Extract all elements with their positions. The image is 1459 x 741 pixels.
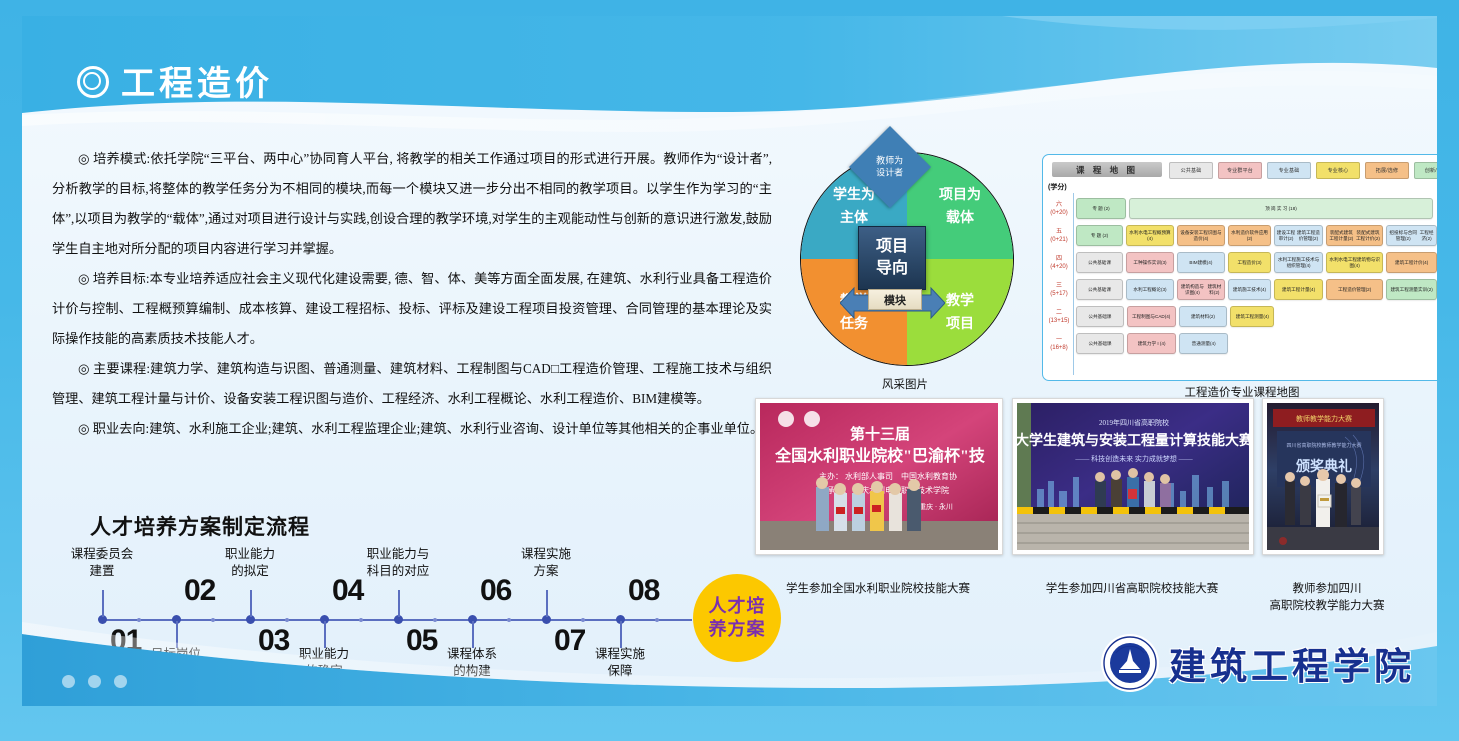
legend-item-5: 创新/实践 <box>1414 162 1437 179</box>
course-cell <box>1327 334 1384 353</box>
svg-text:2019年四川省高职院校: 2019年四川省高职院校 <box>1099 418 1169 427</box>
paragraph-main-courses: ◎ 主要课程:建筑力学、建筑构造与识图、普通测量、建筑材料、工程制图与CAD□工… <box>52 354 772 414</box>
svg-text:教师教学能力大赛: 教师教学能力大赛 <box>1296 414 1352 423</box>
course-cell <box>1387 334 1437 353</box>
course-cell: 设备安装工程识图与造价(4) <box>1177 225 1225 246</box>
course-cell <box>1276 334 1324 353</box>
course-map-row: 公共基础课工种操作实训(3)BIM建模(4)工程造价(3)水利工程施工技术与组织… <box>1076 249 1437 276</box>
legend-item-0: 公共基础 <box>1169 162 1213 179</box>
course-map-row: 专 题 (2)水利水电工程概预算(4)设备安装工程识图与造价(4)水利造价软件应… <box>1076 222 1437 249</box>
poster-inner-panel: 工程造价 ◎ 培养模式:依托学院“三平台、两中心”协同育人平台, 将教学的相关工… <box>22 16 1437 706</box>
semester-四: 四(4+20) <box>1046 249 1072 276</box>
course-cell: 建筑工程测量(4) <box>1230 306 1274 327</box>
page-title-text: 工程造价 <box>121 65 273 103</box>
course-cell: 水利工程概论(3) <box>1126 279 1174 300</box>
course-cell: 公共基础课 <box>1076 252 1123 273</box>
semester-五: 五(0+21) <box>1046 222 1072 249</box>
timeline-label-05: 职业能力与科目的对应 <box>350 546 446 580</box>
photo-teacher-competition: 教师教学能力大赛 四川省高职院校教师教学能力大赛 颁奖典礼 <box>1262 398 1384 555</box>
photo-national-competition: 第十三届 全国水利职业院校"巴渝杯"技 主办： 水利部人事司 中国水利教育协 承… <box>755 398 1003 555</box>
semester-六: 六(0+20) <box>1046 195 1072 222</box>
double-circle-icon <box>77 66 109 98</box>
course-cell: 公共基础课 <box>1076 306 1124 327</box>
course-cell: 建筑力学 I (4) <box>1127 333 1176 354</box>
school-crest-icon <box>1101 634 1159 692</box>
dot-1 <box>62 675 75 688</box>
timeline-title: 人才培养方案制定流程 <box>90 511 310 541</box>
page-title: 工程造价 <box>77 56 273 105</box>
course-cell: 建筑施工技术(4) <box>1228 279 1271 300</box>
dot-2 <box>88 675 101 688</box>
decorative-dots <box>62 675 127 688</box>
course-cell: 普通测量(4) <box>1179 333 1228 354</box>
course-cell: 建筑工程测量实训(2) <box>1386 279 1437 300</box>
legend-item-4: 拓展/选修 <box>1365 162 1409 179</box>
wheel-module-label: 模块 <box>868 289 922 310</box>
svg-text:重庆 · 永川: 重庆 · 永川 <box>919 502 953 511</box>
course-cell: 建筑材料(2) <box>1179 306 1228 327</box>
course-cell: 公共基础课 <box>1076 279 1123 300</box>
photo-3-image: 教师教学能力大赛 四川省高职院校教师教学能力大赛 颁奖典礼 <box>1267 403 1379 550</box>
legend-item-2: 专业基础 <box>1267 162 1311 179</box>
course-map-axis <box>1073 193 1074 375</box>
course-map-semester-column: 六(0+20)五(0+21)四(4+20)三(5+17)二(13+15)一(16… <box>1046 195 1072 357</box>
course-cell <box>1277 307 1325 326</box>
course-cell: 公共基础课 <box>1076 333 1124 354</box>
course-map-row: 公共基础课建筑力学 I (4)普通测量(4) <box>1076 330 1437 357</box>
semester-一: 一(16+8) <box>1046 330 1072 357</box>
dot-3 <box>114 675 127 688</box>
photo-province-competition: 2019年四川省高职院校 大学生建筑与安装工程量计算技能大赛 —— 科技创造未来… <box>1012 398 1254 555</box>
course-map-row: 公共基础课工程制图与CAD(4)建筑材料(2)建筑工程测量(4) <box>1076 303 1437 330</box>
poster-page: 工程造价 ◎ 培养模式:依托学院“三平台、两中心”协同育人平台, 将教学的相关工… <box>0 0 1459 741</box>
course-cell: 专 题 (2) <box>1076 198 1126 219</box>
course-cell: 建筑构造与识图(4)建筑材料(2) <box>1177 279 1225 300</box>
legend-item-1: 专业群平台 <box>1218 162 1262 179</box>
course-cell: 建设工程审计(2)建筑工程造价管理(2) <box>1274 225 1323 246</box>
paragraph-career-paths: ◎ 职业去向:建筑、水利施工企业;建筑、水利工程监理企业;建筑、水利行业咨询、设… <box>52 414 772 444</box>
svg-text:全国水利职业院校"巴渝杯"技: 全国水利职业院校"巴渝杯"技 <box>774 446 986 465</box>
course-cell: 工程制图与CAD(4) <box>1127 306 1176 327</box>
course-cell: 装配式建筑工程计量(2)装配式建筑工程计价(2) <box>1326 225 1383 246</box>
course-cell: 水利水电工程概预算(4) <box>1126 225 1174 246</box>
course-cell <box>1387 307 1437 326</box>
legend-item-3: 专业核心 <box>1316 162 1360 179</box>
svg-text:—— 科技创造未来 实力成就梦想 ——: —— 科技创造未来 实力成就梦想 —— <box>1074 454 1193 463</box>
school-logo: 建筑工程学院 <box>1101 634 1415 692</box>
course-cell: BIM建模(4) <box>1177 252 1225 273</box>
school-name: 建筑工程学院 <box>1169 636 1415 690</box>
course-map-panel: 课 程 地 图 公共基础专业群平台专业基础专业核心拓展/选修创新/实践 (学分)… <box>1042 154 1437 381</box>
svg-text:四川省高职院校教师教学能力大赛: 四川省高职院校教师教学能力大赛 <box>1286 442 1361 449</box>
course-map-legend: 公共基础专业群平台专业基础专业核心拓展/选修创新/实践 <box>1169 162 1437 179</box>
svg-text:大学生建筑与安装工程量计算技能大赛: 大学生建筑与安装工程量计算技能大赛 <box>1017 432 1249 449</box>
body-copy: ◎ 培养模式:依托学院“三平台、两中心”协同育人平台, 将教学的相关工作通过项目… <box>52 144 772 444</box>
semester-二: 二(13+15) <box>1046 303 1072 330</box>
course-cell: 顶 岗 实 习 (18) <box>1129 198 1433 219</box>
svg-text:第十三届: 第十三届 <box>850 425 910 443</box>
course-cell: 水利工程施工技术与组织管理(4) <box>1274 252 1323 273</box>
timeline-label-07: 课程实施方案 <box>498 546 594 580</box>
photo-2-image: 2019年四川省高职院校 大学生建筑与安装工程量计算技能大赛 —— 科技创造未来… <box>1017 403 1249 550</box>
course-map-row: 专 题 (2)顶 岗 实 习 (18) <box>1076 195 1437 222</box>
course-cell: 建筑工程计量(4) <box>1274 279 1323 300</box>
paragraph-training-goal: ◎ 培养目标:本专业培养适应社会主义现代化建设需要, 德、智、体、美等方面全面发… <box>52 264 772 354</box>
wheel-caption: 风采图片 <box>820 376 990 392</box>
course-map-row: 公共基础课水利工程概论(3)建筑构造与识图(4)建筑材料(2)建筑施工技术(4)… <box>1076 276 1437 303</box>
project-oriented-wheel: 学生为 主体 项目为 载体 教学 任务 教学 项目 模块 <box>780 144 1030 394</box>
paragraph-training-mode: ◎ 培养模式:依托学院“三平台、两中心”协同育人平台, 将教学的相关工作通过项目… <box>52 144 772 264</box>
course-cell: 招投标与合同管理(2)工程经济(2) <box>1386 225 1437 246</box>
course-cell: 水利造价软件应用(2) <box>1228 225 1271 246</box>
photo-1-image: 第十三届 全国水利职业院校"巴渝杯"技 主办： 水利部人事司 中国水利教育协 承… <box>760 403 998 550</box>
wheel-core-label: 项目 导向 <box>858 226 926 290</box>
semester-三: 三(5+17) <box>1046 276 1072 303</box>
course-cell: 建筑工程计价(4) <box>1386 252 1437 273</box>
svg-text:主办： 水利部人事司 中国水利教育协: 主办： 水利部人事司 中国水利教育协 <box>819 471 957 481</box>
course-cell <box>1231 334 1273 353</box>
course-map-rows: 专 题 (2)顶 岗 实 习 (18)专 题 (2)水利水电工程概预算(4)设备… <box>1076 195 1437 357</box>
course-cell <box>1328 307 1384 326</box>
timeline-label-01: 课程委员会建置 <box>54 546 150 580</box>
course-map-credits-label: (学分) <box>1048 182 1067 192</box>
course-cell: 工程造价管理(2) <box>1326 279 1383 300</box>
timeline-label-03: 职业能力的拟定 <box>202 546 298 580</box>
course-cell: 工程造价(3) <box>1228 252 1271 273</box>
course-map-header: 课 程 地 图 <box>1052 162 1162 177</box>
course-cell: 工种操作实训(3) <box>1126 252 1174 273</box>
course-cell: 专 题 (2) <box>1076 225 1123 246</box>
course-cell: 水利水电工程建筑物与识图(4) <box>1326 252 1383 273</box>
